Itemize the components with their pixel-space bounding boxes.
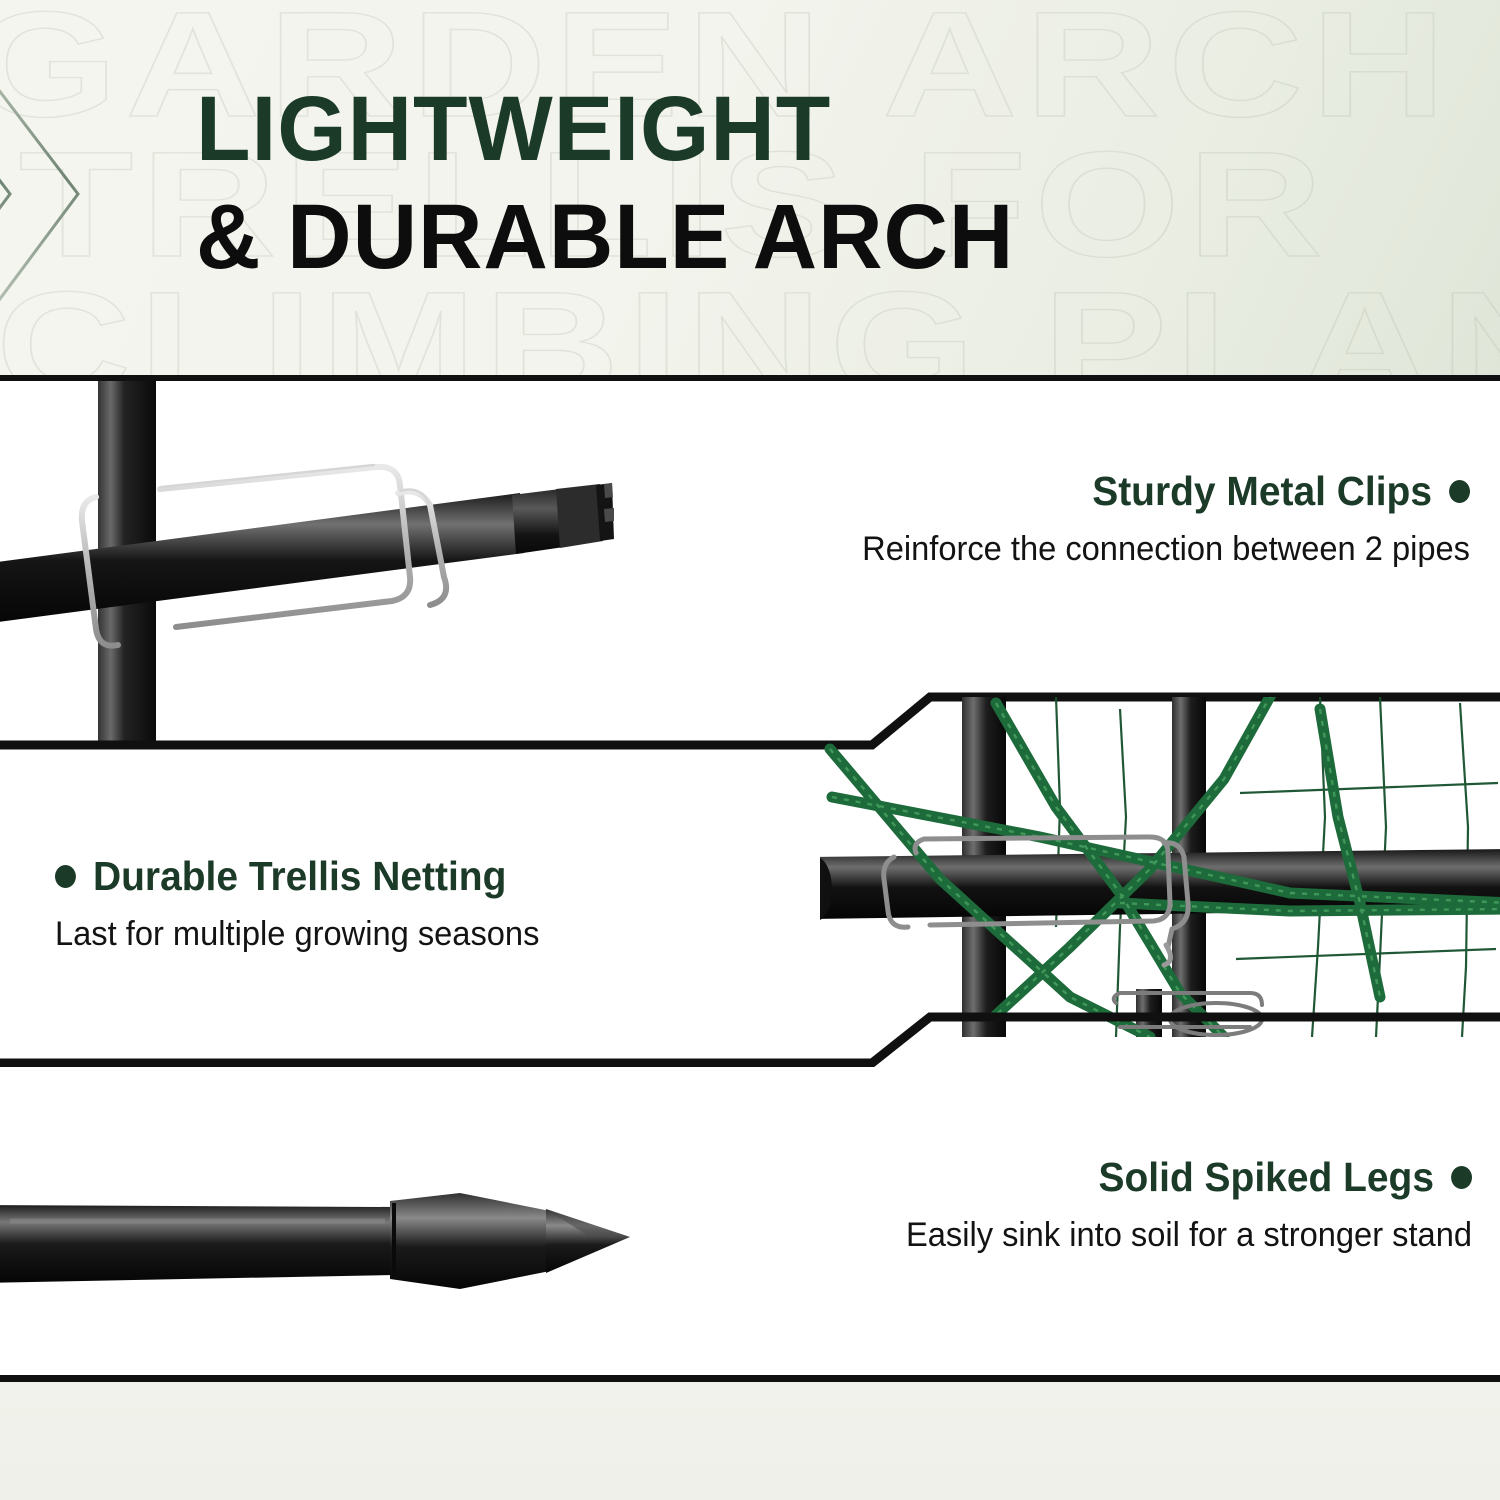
feature-text-spiked-legs: Solid Spiked Legs Easily sink into soil …	[660, 1153, 1472, 1257]
header-banner: GARDEN ARCH TRELLIS FOR CLIMBING PLANTS	[0, 0, 1500, 381]
infographic-page: GARDEN ARCH TRELLIS FOR CLIMBING PLANTS	[0, 0, 1500, 1500]
feature-title-label: Sturdy Metal Clips	[1092, 467, 1432, 515]
bullet-dot-icon	[1449, 480, 1470, 503]
feature-subtitle-spiked-legs: Easily sink into soil for a stronger sta…	[692, 1213, 1472, 1257]
feature-text-metal-clips: Sturdy Metal Clips Reinforce the connect…	[640, 467, 1470, 571]
title-line-lightweight: LIGHTWEIGHT	[196, 78, 1014, 180]
feature-title-label: Durable Trellis Netting	[93, 852, 506, 900]
chevron-decoration-icon	[0, 22, 132, 372]
feature-title-label: Solid Spiked Legs	[1099, 1153, 1434, 1201]
feature-title-trellis-netting: Durable Trellis Netting	[55, 852, 720, 900]
feature-text-trellis-netting: Durable Trellis Netting Last for multipl…	[55, 852, 755, 956]
title-line-durable-arch: & DURABLE ARCH	[196, 186, 1014, 288]
feature-section-spiked-legs: Solid Spiked Legs Easily sink into soil …	[0, 1067, 1500, 1378]
feature-subtitle-metal-clips: Reinforce the connection between 2 pipes	[673, 527, 1470, 571]
trellis-netting-photo	[820, 697, 1500, 1037]
feature-title-spiked-legs: Solid Spiked Legs	[701, 1153, 1472, 1201]
spiked-leg-photo	[0, 1165, 670, 1325]
feature-subtitle-trellis-netting: Last for multiple growing seasons	[55, 912, 727, 956]
page-title: LIGHTWEIGHT & DURABLE ARCH	[196, 78, 1040, 288]
footer-band	[0, 1382, 1500, 1500]
feature-title-metal-clips: Sturdy Metal Clips	[682, 467, 1471, 515]
bullet-dot-icon	[1451, 1166, 1472, 1189]
bullet-dot-icon	[55, 865, 76, 888]
